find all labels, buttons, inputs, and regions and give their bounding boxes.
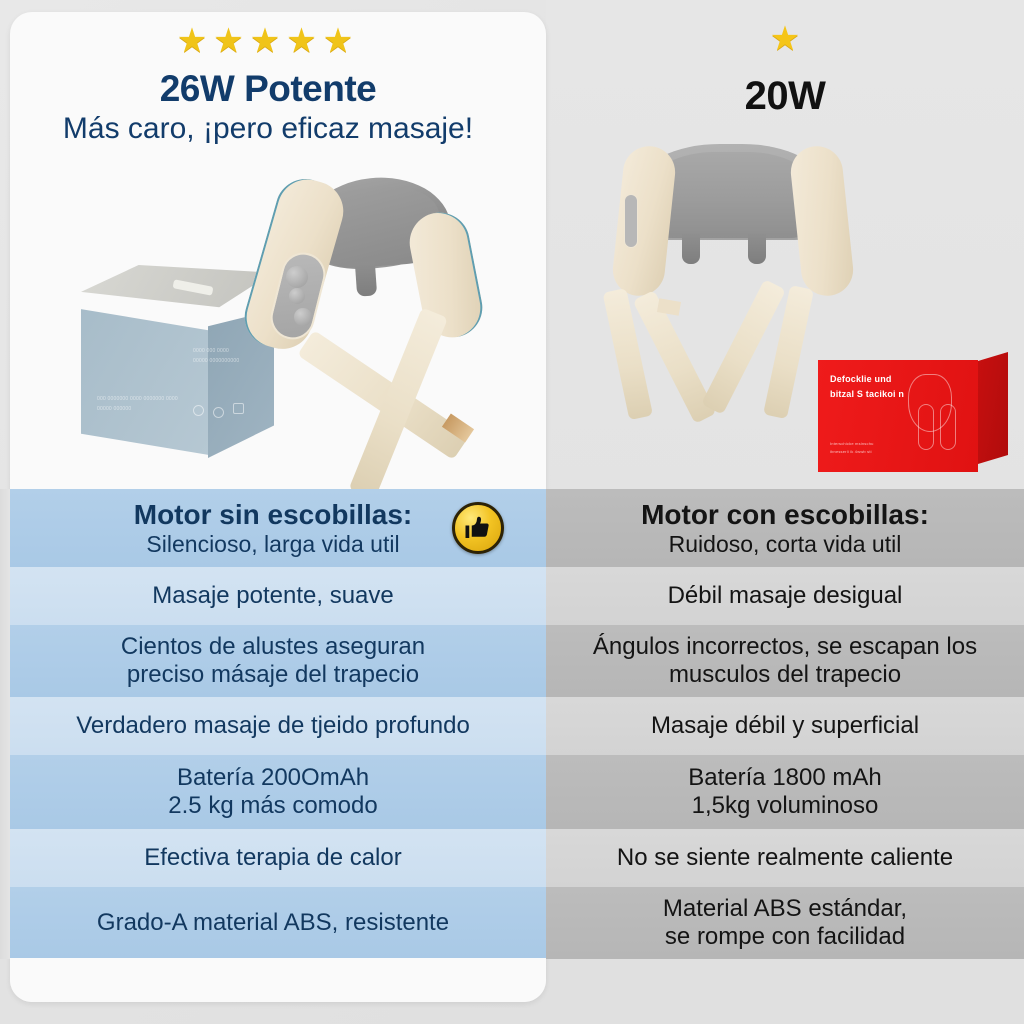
red-package-small-line-2: ibnesserli ik 4wwb sti [830, 449, 872, 454]
table-row: Batería 200OmAh 2.5 kg más comodo Baterí… [0, 755, 1024, 829]
row-2-left-text: Masaje potente, suave [152, 582, 394, 610]
row-3-right-text-line-1: Ángulos incorrectos, se escapan los [593, 633, 977, 661]
row-3-left-text-line-2: preciso másaje del trapecio [121, 661, 425, 689]
row-5-right-cell: Batería 1800 mAh 1,5kg voluminoso [546, 755, 1024, 829]
row-1-left-subtitle: Silencioso, larga vida util [134, 531, 413, 558]
row-4-left-text: Verdadero masaje de tjeido profundo [76, 712, 470, 740]
row-5-right-text-line-1: Batería 1800 mAh [688, 764, 881, 792]
row-6-right-cell: No se siente realmente caliente [546, 829, 1024, 887]
row-5-right-text-line-2: 1,5kg voluminoso [688, 792, 881, 820]
row-5-left-text-line-1: Batería 200OmAh [168, 764, 377, 792]
left-star-rating: ★★★★★ [0, 24, 536, 58]
thumbs-up-icon [452, 502, 504, 554]
left-massager-product [258, 170, 540, 500]
left-card-footer [10, 958, 546, 1002]
right-star-rating: ★ [546, 22, 1024, 56]
red-package-title-line-2: bitzal S tacikoi n [830, 389, 904, 399]
row-1-right-cell: Motor con escobillas: Ruidoso, corta vid… [546, 489, 1024, 567]
row-1-left-cell: Motor sin escobillas: Silencioso, larga … [0, 489, 546, 567]
row-6-right-text: No se siente realmente caliente [617, 844, 953, 872]
package-footer-line-2: 00000 000000 [97, 406, 131, 412]
table-row: Motor sin escobillas: Silencioso, larga … [0, 489, 1024, 567]
row-1-right-title: Motor con escobillas: [641, 498, 929, 531]
row-7-right-text-line-1: Material ABS estándar, [663, 895, 907, 923]
row-7-left-text: Grado-A material ABS, resistente [97, 909, 449, 937]
row-4-right-cell: Masaje débil y superficial [546, 697, 1024, 755]
red-package-small-line-1: Interschicke msinschu [830, 441, 874, 446]
package-icon-2 [213, 407, 224, 418]
package-text-line-1: 0000 000 0000 [193, 348, 229, 354]
row-4-right-text: Masaje débil y superficial [651, 712, 919, 740]
right-control-slot [624, 194, 638, 248]
control-button-3[interactable] [294, 308, 312, 326]
row-5-left-text-line-2: 2.5 kg más comodo [168, 792, 377, 820]
table-row: Verdadero masaje de tjeido profundo Masa… [0, 697, 1024, 755]
table-row: Cientos de alustes aseguran preciso mása… [0, 625, 1024, 697]
package-icon-3 [233, 403, 244, 414]
package-icon-1 [193, 405, 204, 416]
row-3-left-text-line-1: Cientos de alustes aseguran [121, 633, 425, 661]
row-2-right-cell: Débil masaje desigual [546, 567, 1024, 625]
row-2-left-cell: Masaje potente, suave [0, 567, 546, 625]
table-row: Efectiva terapia de calor No se siente r… [0, 829, 1024, 887]
package-footer-line-1: 000 0000000 0000 0000000 0000 [97, 396, 178, 402]
table-row: Grado-A material ABS, resistente Materia… [0, 887, 1024, 959]
row-7-left-cell: Grado-A material ABS, resistente [0, 887, 546, 959]
comparison-table: Motor sin escobillas: Silencioso, larga … [0, 489, 1024, 959]
row-3-right-cell: Ángulos incorrectos, se escapan los musc… [546, 625, 1024, 697]
row-1-left-title: Motor sin escobillas: [134, 498, 413, 531]
row-5-left-cell: Batería 200OmAh 2.5 kg más comodo [0, 755, 546, 829]
row-6-left-cell: Efectiva terapia de calor [0, 829, 546, 887]
row-4-left-cell: Verdadero masaje de tjeido profundo [0, 697, 546, 755]
row-7-right-cell: Material ABS estándar, se rompe con faci… [546, 887, 1024, 959]
comparison-infographic: 0000 000 0000 00000 0000000000 000 00000… [0, 0, 1024, 1024]
control-button-1[interactable] [286, 266, 308, 288]
package-text-line-2: 00000 0000000000 [193, 358, 239, 364]
table-row: Masaje potente, suave Débil masaje desig… [0, 567, 1024, 625]
row-1-right-subtitle: Ruidoso, corta vida util [641, 531, 929, 558]
row-2-right-text: Débil masaje desigual [668, 582, 903, 610]
row-3-right-text-line-2: musculos del trapecio [593, 661, 977, 689]
right-product-title: 20W [546, 74, 1024, 119]
row-7-right-text-line-2: se rompe con facilidad [663, 923, 907, 951]
left-product-subtitle: Más caro, ¡pero eficaz masaje! [0, 112, 536, 146]
row-6-left-text: Efectiva terapia de calor [144, 844, 401, 872]
row-3-left-cell: Cientos de alustes aseguran preciso mása… [0, 625, 546, 697]
left-product-title: 26W Potente [0, 68, 536, 110]
right-product-package: Defocklie und bitzal S tacikoi n Intersc… [818, 352, 1018, 480]
red-package-title-line-1: Defocklie und [830, 374, 892, 384]
control-button-2[interactable] [289, 288, 305, 304]
